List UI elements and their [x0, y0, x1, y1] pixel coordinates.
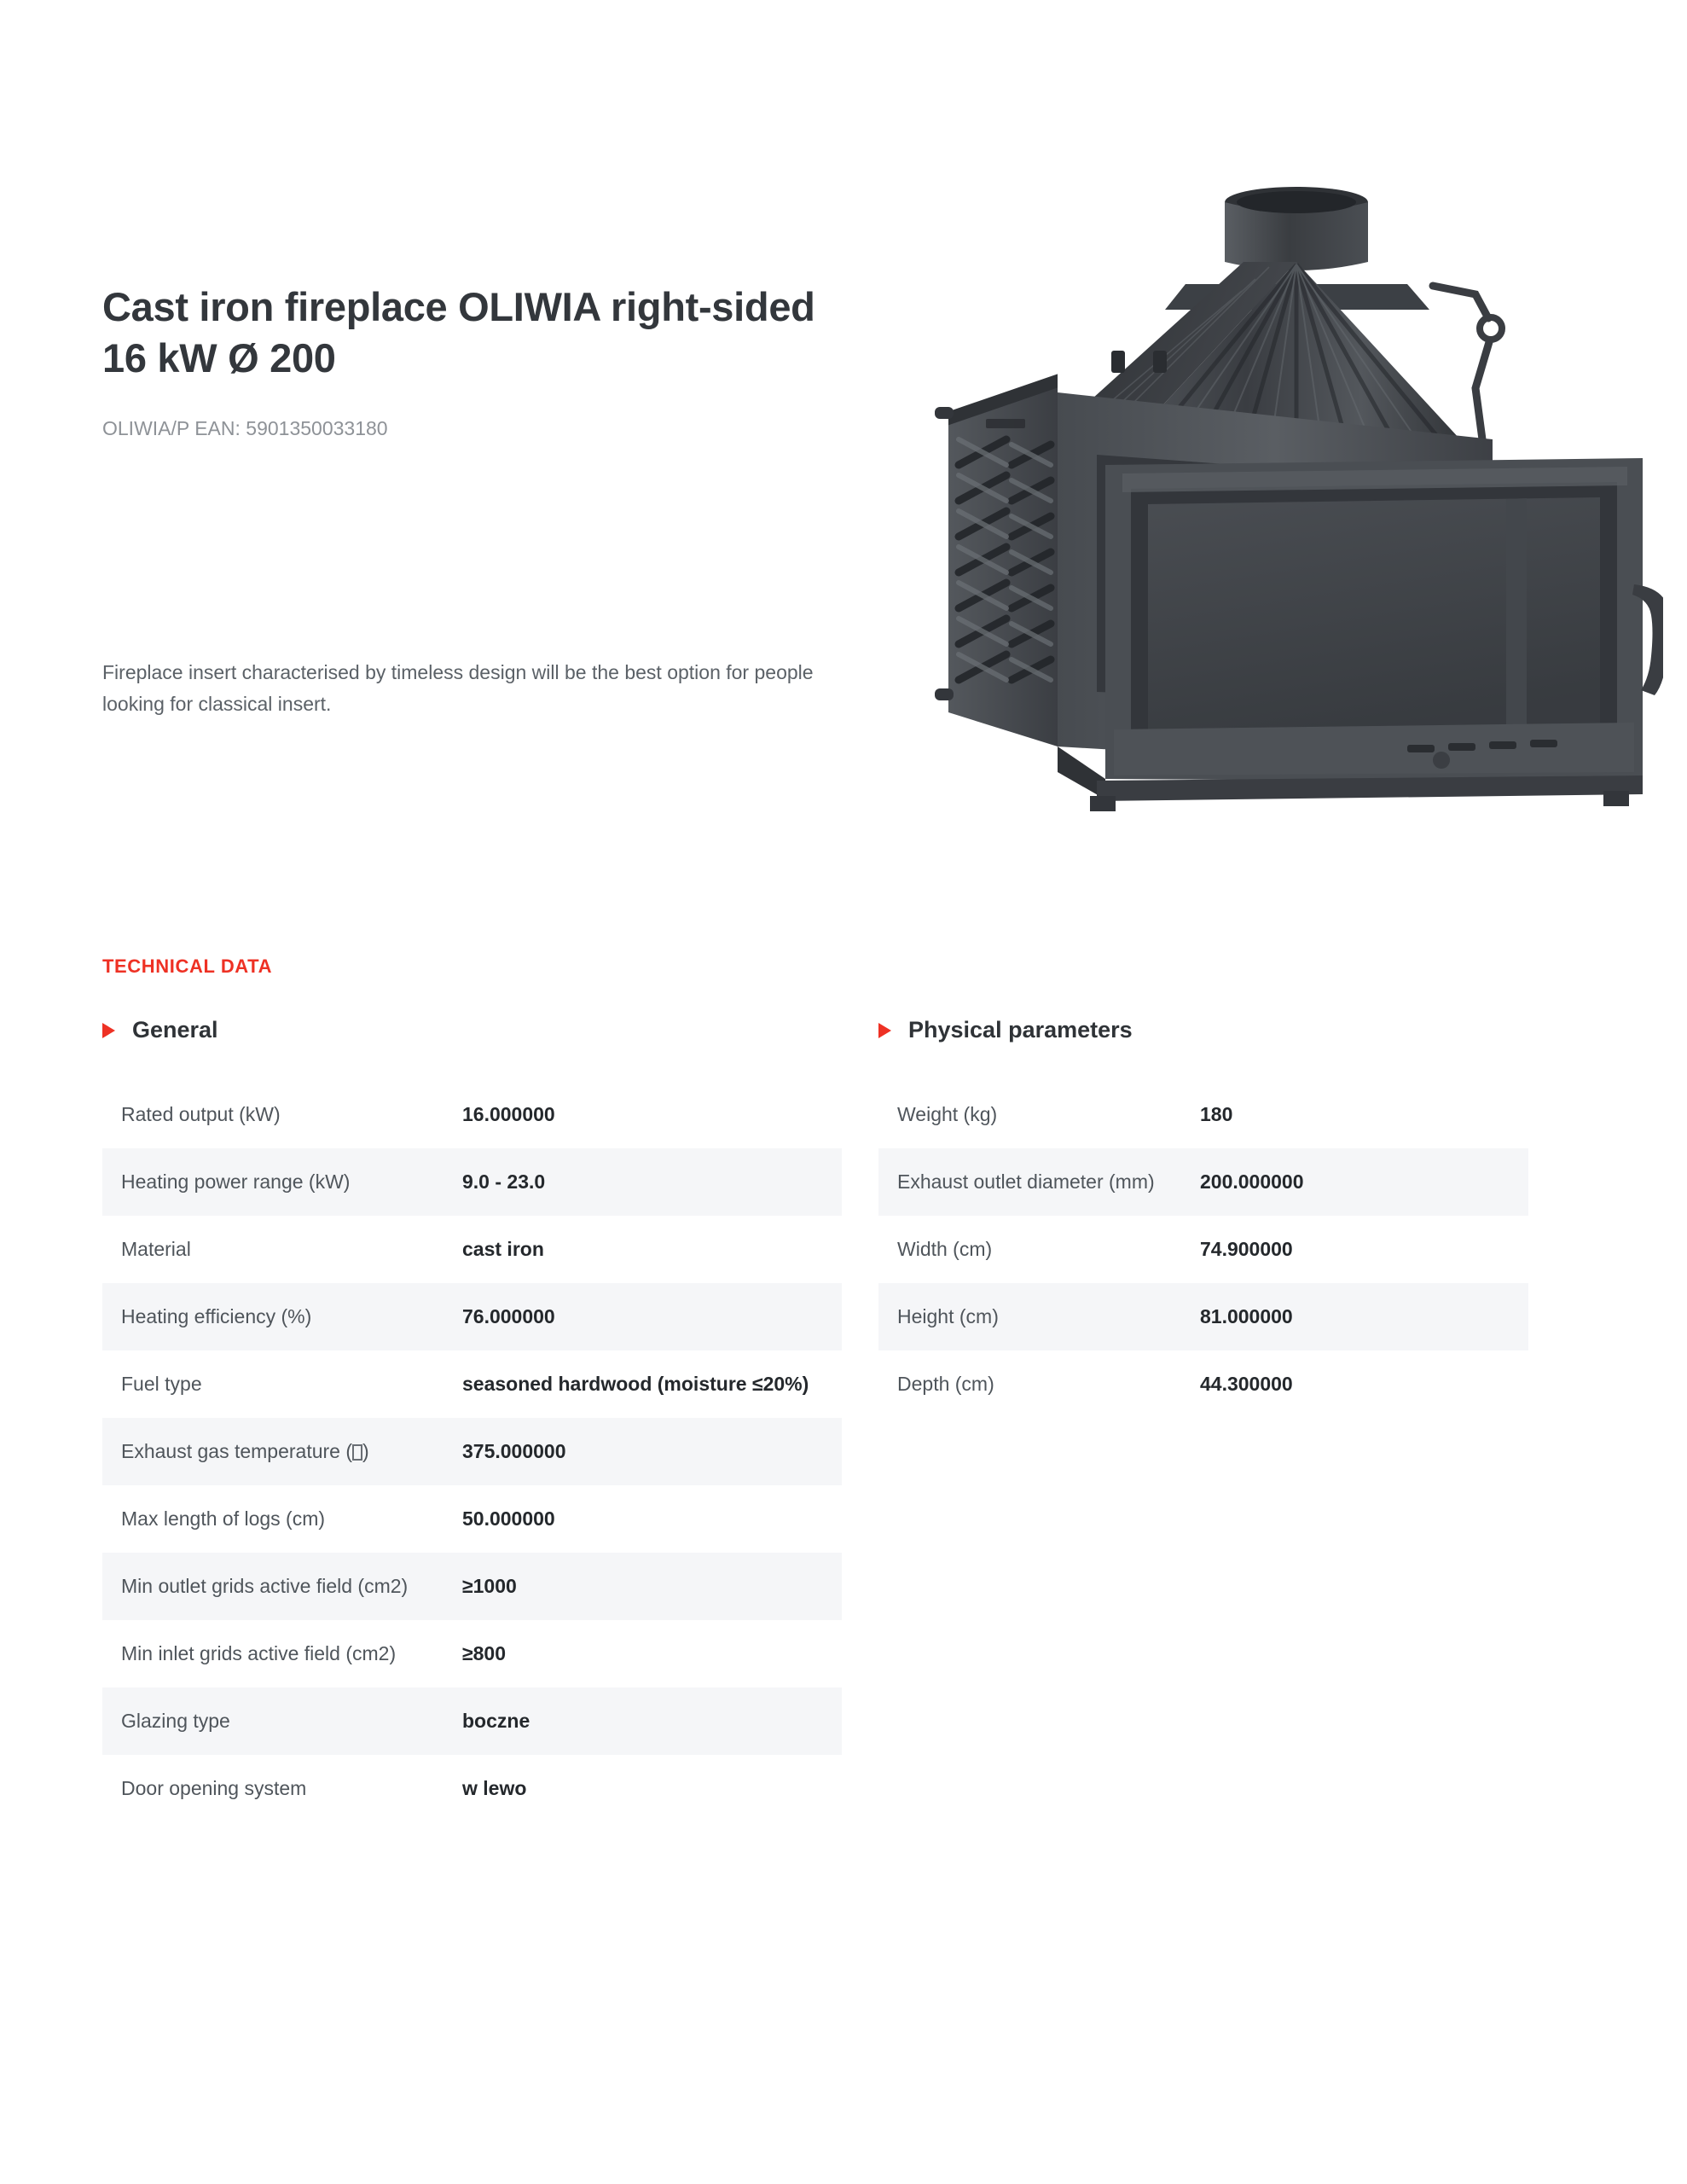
spec-label: Heating efficiency (%)	[102, 1283, 462, 1350]
spec-value: 76.000000	[462, 1283, 842, 1350]
spec-value: w lewo	[462, 1755, 842, 1822]
table-row: Heating efficiency (%) 76.000000	[102, 1283, 842, 1350]
product-image	[930, 183, 1663, 960]
spec-table-general: Rated output (kW) 16.000000 Heating powe…	[102, 1081, 842, 1821]
spec-label: Heating power range (kW)	[102, 1148, 462, 1216]
table-row: Height (cm) 81.000000	[878, 1283, 1528, 1350]
spec-value: 180	[1200, 1081, 1528, 1148]
spec-value: seasoned hardwood (moisture ≤20%)	[462, 1350, 842, 1418]
table-row: Weight (kg) 180	[878, 1081, 1528, 1148]
spec-label: Exhaust gas temperature ()	[102, 1418, 462, 1485]
table-row: Glazing type boczne	[102, 1687, 842, 1755]
triangle-bullet-icon	[102, 1023, 115, 1038]
spec-value: 9.0 - 23.0	[462, 1148, 842, 1216]
spec-value: ≥800	[462, 1620, 842, 1687]
table-row: Rated output (kW) 16.000000	[102, 1081, 842, 1148]
product-header: Cast iron fireplace OLIWIA right-sided 1…	[102, 282, 870, 443]
spec-table-physical-parameters: Weight (kg) 180 Exhaust outlet diameter …	[878, 1081, 1528, 1418]
spec-group-label: Physical parameters	[908, 1017, 1133, 1043]
table-row: Width (cm) 74.900000	[878, 1216, 1528, 1283]
product-code-ean: OLIWIA/P EAN: 5901350033180	[102, 415, 870, 442]
spec-group-general: General Rated output (kW) 16.000000 Heat…	[102, 1017, 840, 1821]
table-row: Depth (cm) 44.300000	[878, 1350, 1528, 1418]
side-panel-shape	[935, 374, 1058, 746]
spec-value: 200.000000	[1200, 1148, 1528, 1216]
table-row: Min outlet grids active field (cm2) ≥100…	[102, 1553, 842, 1620]
spec-value: 375.000000	[462, 1418, 842, 1485]
spec-value: 44.300000	[1200, 1350, 1528, 1418]
spec-label: Height (cm)	[878, 1283, 1200, 1350]
spec-label: Rated output (kW)	[102, 1081, 462, 1148]
spec-label: Weight (kg)	[878, 1081, 1200, 1148]
table-row: Material cast iron	[102, 1216, 842, 1283]
spec-group-title-general: General	[102, 1017, 840, 1043]
spec-value: ≥1000	[462, 1553, 842, 1620]
spec-value: boczne	[462, 1687, 842, 1755]
spec-label: Exhaust outlet diameter (mm)	[878, 1148, 1200, 1216]
flue-collar-shape	[1225, 187, 1368, 270]
spec-group-label: General	[132, 1017, 218, 1043]
table-row: Exhaust gas temperature () 375.000000	[102, 1418, 842, 1485]
spec-value: 50.000000	[462, 1485, 842, 1553]
spec-label: Fuel type	[102, 1350, 462, 1418]
table-row: Max length of logs (cm) 50.000000	[102, 1485, 842, 1553]
triangle-bullet-icon	[878, 1023, 891, 1038]
spec-label-text: Exhaust gas temperature (	[121, 1440, 352, 1462]
spec-label: Glazing type	[102, 1687, 462, 1755]
page-title: Cast iron fireplace OLIWIA right-sided 1…	[102, 282, 853, 384]
spec-value: 74.900000	[1200, 1216, 1528, 1283]
spec-label: Min outlet grids active field (cm2)	[102, 1553, 462, 1620]
spec-label: Max length of logs (cm)	[102, 1485, 462, 1553]
table-row: Heating power range (kW) 9.0 - 23.0	[102, 1148, 842, 1216]
table-row: Door opening system w lewo	[102, 1755, 842, 1822]
table-row: Exhaust outlet diameter (mm) 200.000000	[878, 1148, 1528, 1216]
spec-label: Depth (cm)	[878, 1350, 1200, 1418]
spec-label: Material	[102, 1216, 462, 1283]
spec-label-suffix: )	[362, 1440, 369, 1462]
spec-label: Min inlet grids active field (cm2)	[102, 1620, 462, 1687]
spec-label: Width (cm)	[878, 1216, 1200, 1283]
spec-label: Door opening system	[102, 1755, 462, 1822]
door-frame-shape	[1105, 458, 1643, 782]
air-control-lever	[1433, 286, 1502, 439]
spec-value: 81.000000	[1200, 1283, 1528, 1350]
technical-data-heading: TECHNICAL DATA	[102, 955, 272, 978]
missing-glyph-icon	[352, 1444, 362, 1461]
product-description: Fireplace insert characterised by timele…	[102, 657, 853, 721]
spec-group-physical-parameters: Physical parameters Weight (kg) 180 Exha…	[878, 1017, 1527, 1418]
spec-group-title-physical-parameters: Physical parameters	[878, 1017, 1527, 1043]
table-row: Min inlet grids active field (cm2) ≥800	[102, 1620, 842, 1687]
table-row: Fuel type seasoned hardwood (moisture ≤2…	[102, 1350, 842, 1418]
spec-value: 16.000000	[462, 1081, 842, 1148]
product-spec-page: Cast iron fireplace OLIWIA right-sided 1…	[0, 0, 1687, 2184]
spec-value: cast iron	[462, 1216, 842, 1283]
